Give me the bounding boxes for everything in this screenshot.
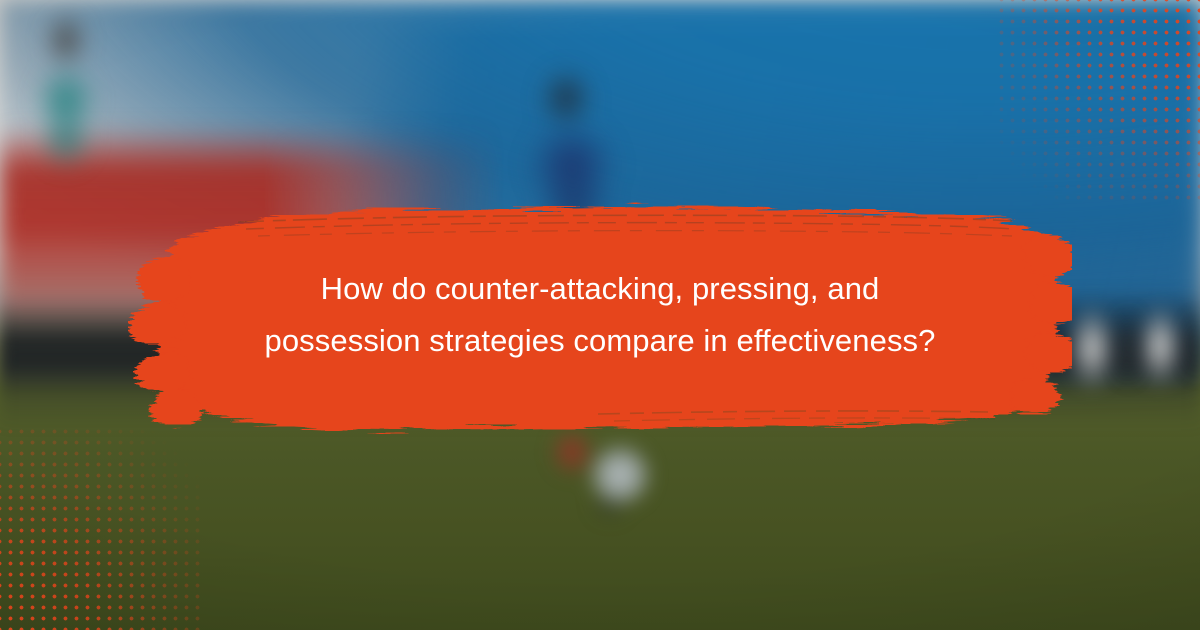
- question-headline: How do counter-attacking, pressing, and …: [128, 186, 1072, 444]
- halftone-dots-bottom-left-icon: [0, 426, 204, 630]
- question-card: How do counter-attacking, pressing, and …: [0, 0, 1200, 630]
- halftone-dots-top-right-icon: [996, 0, 1200, 204]
- headline-line-1: How do counter-attacking, pressing, and: [321, 271, 880, 307]
- headline-line-2: possession strategies compare in effecti…: [265, 323, 936, 359]
